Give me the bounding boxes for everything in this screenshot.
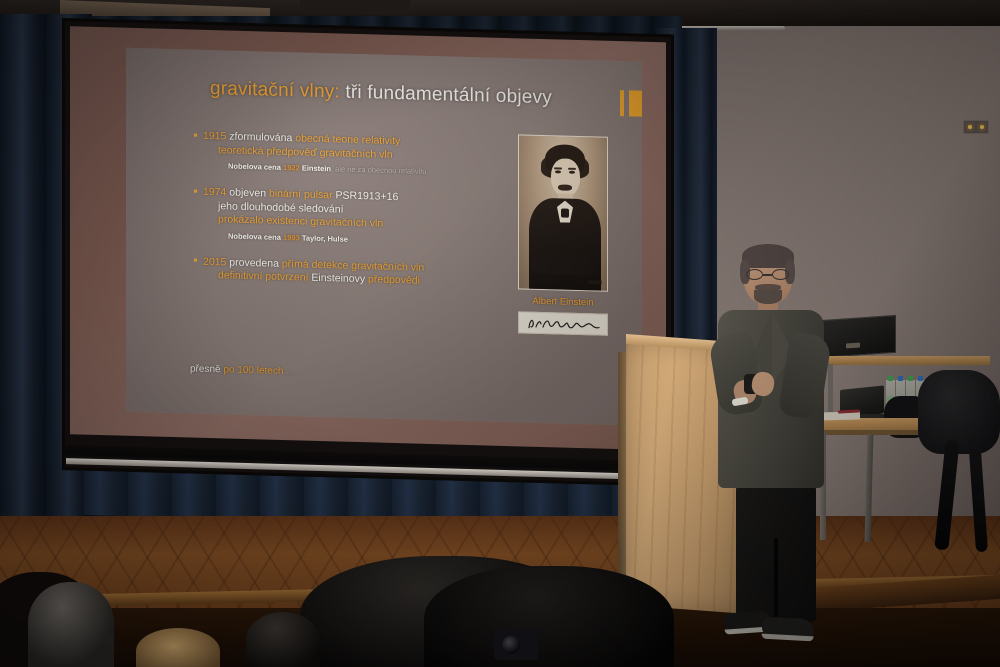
presenter-person	[700, 238, 850, 638]
bullet-1974-rest: binární pulsar	[269, 188, 333, 202]
nobel-label-1993: Nobelova cena	[228, 231, 281, 241]
emergency-light-icon	[963, 120, 989, 134]
nobel-label-1922: Nobelova cena	[228, 161, 281, 171]
nobel-note-1922: , ale ne za obecnou relativitu	[331, 164, 426, 176]
projection-screen: gravitační vlny: tři fundamentální objev…	[62, 18, 674, 487]
nobel-name-1922: Einstein	[302, 163, 331, 173]
glasses-lens-left	[746, 269, 763, 280]
bullet-marker-icon	[194, 189, 197, 192]
bullet-1915-year: 1915	[203, 130, 226, 143]
bullet-1974-verb: objeven	[229, 187, 266, 200]
presenter-leg-gap	[774, 538, 778, 624]
bullet-2015-verb: provedena	[229, 256, 279, 269]
ceiling-vent	[300, 0, 410, 14]
slide-footer-note: přesně po 100 letech ...	[190, 363, 295, 377]
presenter-beard	[754, 290, 782, 304]
portrait-arms	[531, 254, 597, 276]
led-indicator-1	[968, 125, 972, 129]
bullet-1915-verb: zformulována	[229, 131, 292, 145]
bullet-item-2015: 2015 provedena přímá detekce gravitačníc…	[194, 255, 494, 290]
camera-lens-icon	[502, 636, 520, 654]
screen-surface: gravitační vlny: tři fundamentální objev…	[70, 26, 666, 450]
presenter-glasses-icon	[744, 269, 792, 280]
bullet-1974-pulsar-id: PSR1913+16	[336, 189, 399, 203]
portrait-eye-left	[555, 170, 561, 173]
accent-box	[629, 90, 642, 117]
bullet-2015-line2-b: Einsteinovy	[311, 272, 365, 285]
nobel-name-1993: Taylor, Hulse	[302, 233, 348, 243]
nobel-year-1922: 1922	[283, 163, 300, 172]
bullet-marker-icon	[194, 133, 197, 136]
audience-head	[246, 612, 320, 667]
glasses-lens-right	[772, 269, 789, 280]
signature-icon	[523, 314, 605, 334]
portrait-face	[551, 158, 580, 197]
bullet-2015-line2-a: definitivní potvrzení	[218, 269, 308, 283]
bullet-2015-year: 2015	[203, 255, 226, 268]
presenter-shoe-right	[762, 617, 815, 639]
audience-head	[424, 566, 674, 667]
bullet-item-1915: 1915 zformulována obecná teorie relativi…	[194, 130, 494, 179]
nobel-year-1993: 1993	[283, 232, 300, 241]
portrait-moustache	[558, 184, 572, 190]
audience-camera	[494, 630, 538, 660]
footer-dots: ...	[286, 366, 294, 377]
audience-grey-hair	[28, 582, 114, 667]
presentation-slide: gravitační vlny: tři fundamentální objev…	[126, 48, 642, 426]
footer-orange: po 100 letech	[223, 364, 283, 377]
portrait-bowtie	[561, 209, 569, 218]
einstein-panel: Albert Einstein	[518, 134, 608, 335]
backpack	[918, 370, 1000, 454]
footer-white: přesně	[190, 363, 221, 375]
slide-title: gravitační vlny: tři fundamentální objev…	[210, 78, 552, 109]
led-indicator-2	[980, 125, 984, 129]
slide-title-white: tři fundamentální objevy	[345, 82, 552, 109]
bullet-1915-rest: obecná teorie relativity	[295, 132, 400, 147]
slide-title-orange: gravitační vlny:	[210, 78, 340, 103]
bullet-marker-icon	[194, 259, 197, 262]
portrait-brow-left	[554, 167, 562, 169]
glasses-bridge	[763, 274, 772, 276]
bullet-item-1974: 1974 objeven binární pulsar PSR1913+16 j…	[194, 186, 494, 249]
portrait-brow-right	[568, 168, 576, 170]
slide-bullet-list: 1915 zformulována obecná teorie relativi…	[194, 130, 494, 306]
portrait-watermark	[588, 280, 602, 284]
lecture-hall-scene: gravitační vlny: tři fundamentální objev…	[0, 0, 1000, 667]
bullet-2015-line2-c: předpovědi	[368, 273, 420, 286]
einstein-caption: Albert Einstein	[518, 295, 608, 308]
bullet-1974-year: 1974	[203, 186, 226, 199]
einstein-portrait-photo	[518, 134, 608, 291]
accent-bar	[620, 90, 624, 116]
audience-head	[136, 628, 220, 667]
portrait-eye-right	[569, 171, 575, 174]
einstein-signature-box	[518, 311, 608, 335]
